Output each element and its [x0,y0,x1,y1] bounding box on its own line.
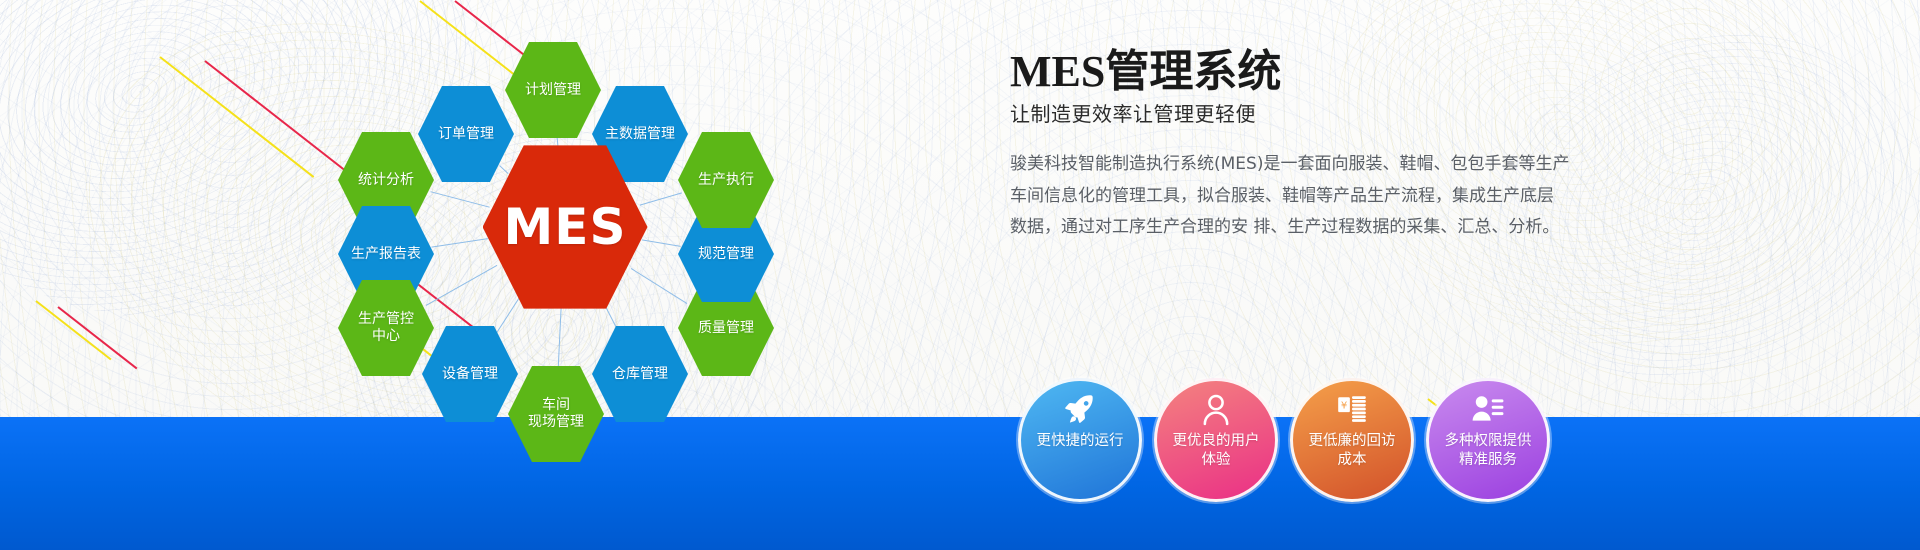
hex-label: 质量管理 [692,320,760,337]
svg-text:¥: ¥ [1341,400,1347,411]
badge-lower-revisit-cost[interactable]: ¥更低廉的回访成本 [1290,378,1414,502]
badge-better-user-experience[interactable]: 更优良的用户体验 [1154,378,1278,502]
content-block: MES管理系统 让制造更效率让管理更轻便 骏美科技智能制造执行系统(MES)是一… [1010,48,1610,244]
permissions-icon [1471,393,1505,427]
hex-label: 生产执行 [692,172,760,189]
mes-banner: 计划管理订单管理统计分析生产报告表生产管控中心设备管理车间现场管理仓库管理质量管… [0,0,1920,550]
hex-label: 仓库管理 [606,366,674,383]
badge-multi-permission-service[interactable]: 多种权限提供精准服务 [1426,378,1550,502]
hex-label: 设备管理 [436,366,504,383]
hex-label: 规范管理 [692,246,760,263]
badge-label: 更快捷的运行 [1027,432,1134,451]
page-description: 骏美科技智能制造执行系统(MES)是一套面向服装、鞋帽、包包手套等生产车间信息化… [1010,149,1570,243]
page-subtitle: 让制造更效率让管理更轻便 [1010,98,1610,127]
user-icon [1199,393,1233,427]
badge-faster-operation[interactable]: 更快捷的运行 [1018,378,1142,502]
hex-label: 生产报告表 [345,246,427,263]
rocket-icon [1063,393,1097,427]
page-title: MES管理系统 [1010,48,1610,96]
hex-label: 车间现场管理 [522,397,590,430]
blue-bottom-band [0,417,1920,550]
hex-label: 计划管理 [519,82,587,99]
hex-label: 生产管控中心 [352,311,420,344]
badge-label: 多种权限提供精准服务 [1435,432,1542,470]
hex-center-label: MES [498,198,633,257]
hex-label: 订单管理 [432,126,500,143]
feature-badges: 更快捷的运行更优良的用户体验¥更低廉的回访成本多种权限提供精准服务 [1018,378,1550,502]
badge-label: 更低廉的回访成本 [1299,432,1406,470]
hex-label: 统计分析 [352,172,420,189]
badge-label: 更优良的用户体验 [1163,432,1270,470]
hex-label: 主数据管理 [599,126,681,143]
hexagon-diagram: 计划管理订单管理统计分析生产报告表生产管控中心设备管理车间现场管理仓库管理质量管… [330,12,800,442]
money-stack-icon: ¥ [1335,393,1369,427]
